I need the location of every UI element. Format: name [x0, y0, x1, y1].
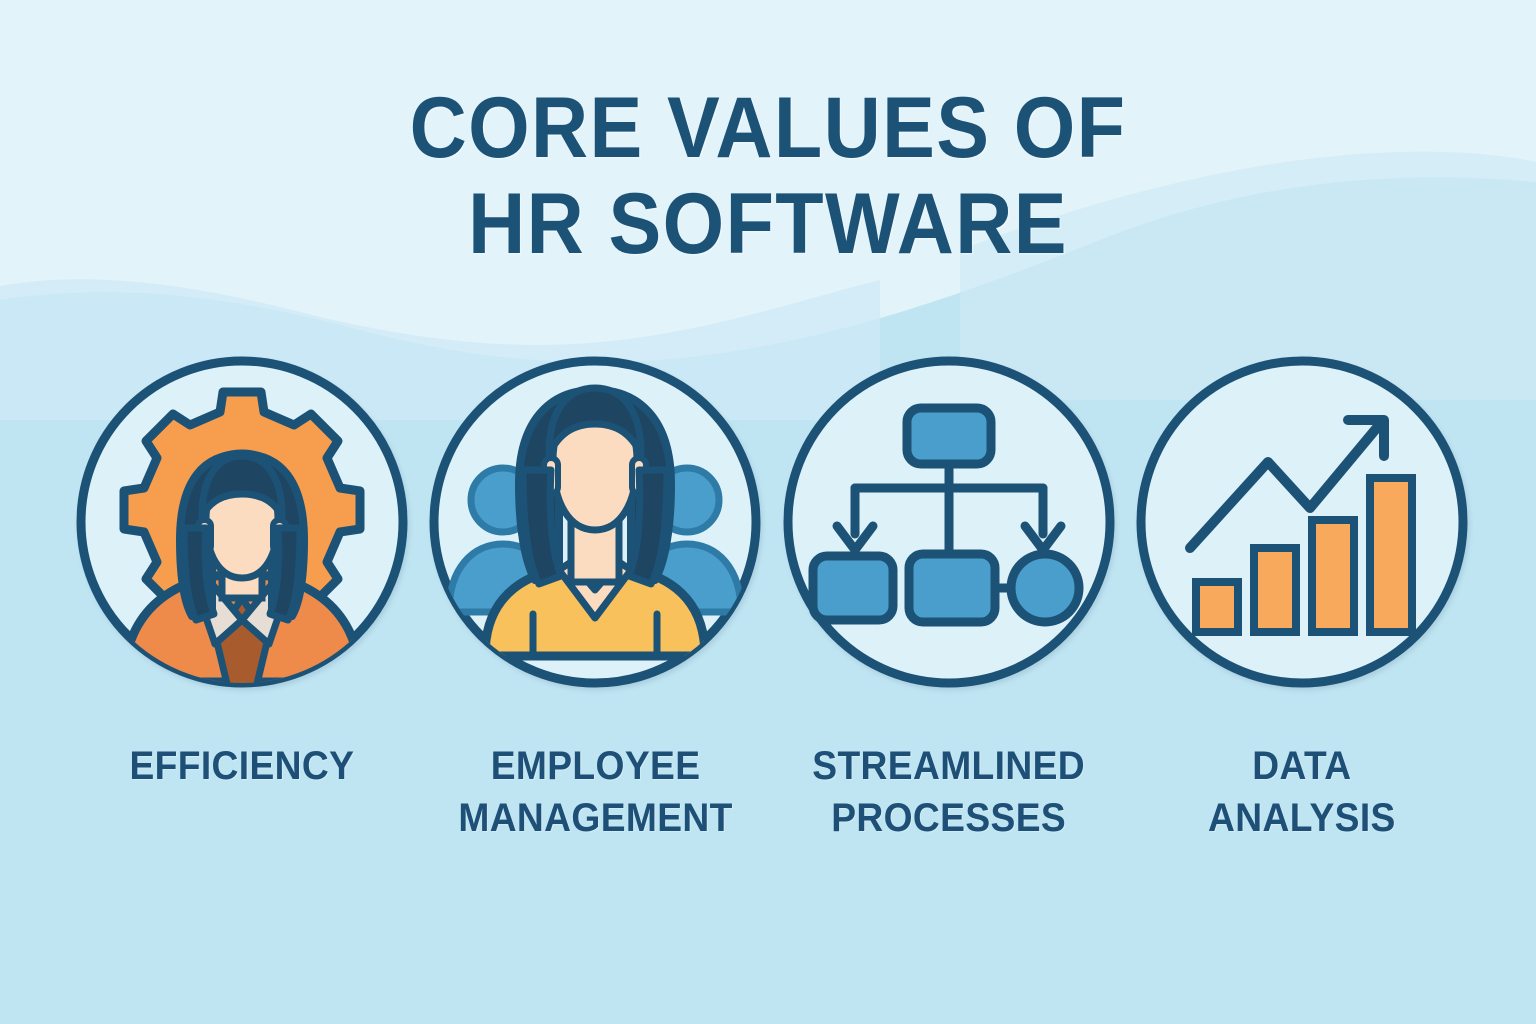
people-group-icon	[425, 352, 765, 692]
bar-2	[1254, 548, 1296, 632]
value-label-streamlined-processes: STREAMLINED PROCESSES	[812, 740, 1085, 844]
page-title: CORE VALUES OF HR SOFTWARE	[0, 80, 1536, 272]
gear-person-icon	[72, 352, 412, 692]
bar-chart-growth-icon	[1132, 352, 1472, 692]
title-line-1: CORE VALUES OF	[61, 80, 1474, 176]
value-label-efficiency: EFFICIENCY	[130, 740, 355, 792]
icon-circle-data-analysis	[1132, 352, 1472, 692]
flow-node-center	[909, 554, 995, 622]
value-item-data-analysis[interactable]: DATA ANALYSIS	[1126, 352, 1478, 844]
flow-node-top	[907, 408, 991, 464]
bar-4	[1370, 478, 1412, 632]
flowchart-icon	[779, 352, 1119, 692]
icon-circle-employee-management	[425, 352, 765, 692]
bar-3	[1312, 520, 1354, 632]
flow-node-right	[1011, 554, 1079, 622]
value-item-efficiency[interactable]: EFFICIENCY	[66, 352, 418, 792]
value-item-streamlined-processes[interactable]: STREAMLINED PROCESSES	[773, 352, 1125, 844]
infographic-canvas: CORE VALUES OF HR SOFTWARE	[0, 0, 1536, 1024]
icon-circle-efficiency	[72, 352, 412, 692]
value-label-data-analysis: DATA ANALYSIS	[1208, 740, 1396, 844]
bar-1	[1196, 582, 1238, 632]
core-values-row: EFFICIENCY	[66, 352, 1478, 844]
value-label-employee-management: EMPLOYEE MANAGEMENT	[458, 740, 732, 844]
flow-node-left	[813, 556, 893, 620]
title-line-2: HR SOFTWARE	[61, 176, 1474, 272]
value-item-employee-management[interactable]: EMPLOYEE MANAGEMENT	[419, 352, 771, 844]
icon-circle-streamlined-processes	[779, 352, 1119, 692]
